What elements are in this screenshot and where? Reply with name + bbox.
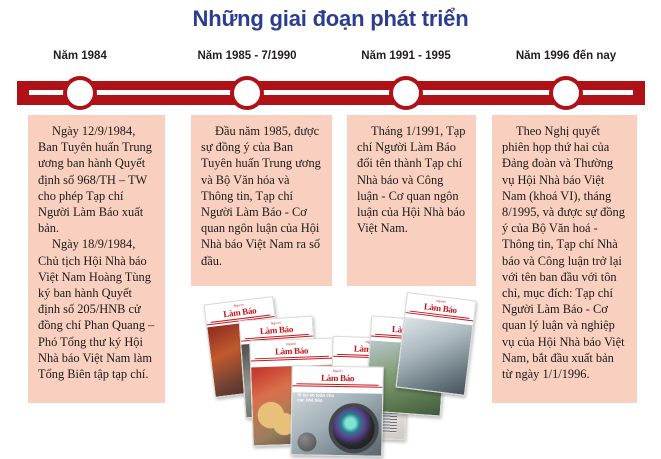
panel-3-paragraph-1: Tháng 1/1991, Tạp chí Người Làm Báo đổi …: [357, 123, 466, 236]
timeline-label-4: Năm 1996 đến nay: [516, 50, 616, 62]
magazine-masthead-4: Người Làm Báo: [292, 366, 382, 388]
camera-lens-icon: [328, 403, 379, 454]
timeline-bar-stripe: [29, 90, 633, 95]
magazine-masthead-7: Người Làm Báo: [406, 293, 476, 321]
magazine-art-7: [397, 317, 473, 395]
timeline-panel-4: Theo Nghị quyết phiên họp thứ hai của Đả…: [492, 115, 637, 403]
timeline-label-3: Năm 1991 - 1995: [361, 50, 451, 62]
timeline-node-3[interactable]: [389, 76, 423, 110]
timeline-label-2: Năm 1985 - 7/1990: [197, 50, 296, 62]
timeline-node-4[interactable]: [549, 76, 583, 110]
magazine-covers-photo: Người Làm Báo Người Làm Báo Người Làm Bá…: [172, 292, 468, 454]
magazine-cover-4: Người Làm Báo Vì sự an toàn cho các nhà …: [290, 365, 384, 457]
timeline-node-1[interactable]: [63, 76, 97, 110]
panel-1-paragraph-1: Ngày 12/9/1984, Ban Tuyên huấn Trung ươn…: [38, 123, 155, 236]
timeline-node-2[interactable]: [230, 76, 264, 110]
timeline-infographic: Những giai đoạn phát triển Năm 1984 Năm …: [0, 0, 661, 459]
panel-4-paragraph-1: Theo Nghị quyết phiên họp thứ hai của Đả…: [502, 123, 627, 382]
timeline-panel-1: Ngày 12/9/1984, Ban Tuyên huấn Trung ươn…: [28, 115, 165, 403]
magazine-caption-4: Vì sự an toàn cho các nhà báo: [297, 392, 337, 403]
magazine-masthead-main-4: Làm Báo: [292, 372, 382, 384]
timeline-panel-2: Đầu năm 1985, được sự đồng ý của Ban Tuy…: [191, 115, 332, 286]
page-title: Những giai đoạn phát triển: [0, 6, 661, 32]
panel-2-paragraph-1: Đầu năm 1985, được sự đồng ý của Ban Tuy…: [201, 123, 322, 269]
magazine-masthead-3: Người Làm Báo: [250, 339, 333, 362]
microphone-icon: [297, 432, 316, 451]
timeline-label-1: Năm 1984: [53, 50, 107, 62]
magazine-cover-7: Người Làm Báo: [395, 292, 476, 396]
panel-1-paragraph-2: Ngày 18/9/1984, Chủ tịch Hội Nhà báo Việ…: [38, 236, 155, 382]
timeline-panel-3: Tháng 1/1991, Tạp chí Người Làm Báo đổi …: [347, 115, 476, 286]
magazine-rule-4: [296, 383, 378, 385]
